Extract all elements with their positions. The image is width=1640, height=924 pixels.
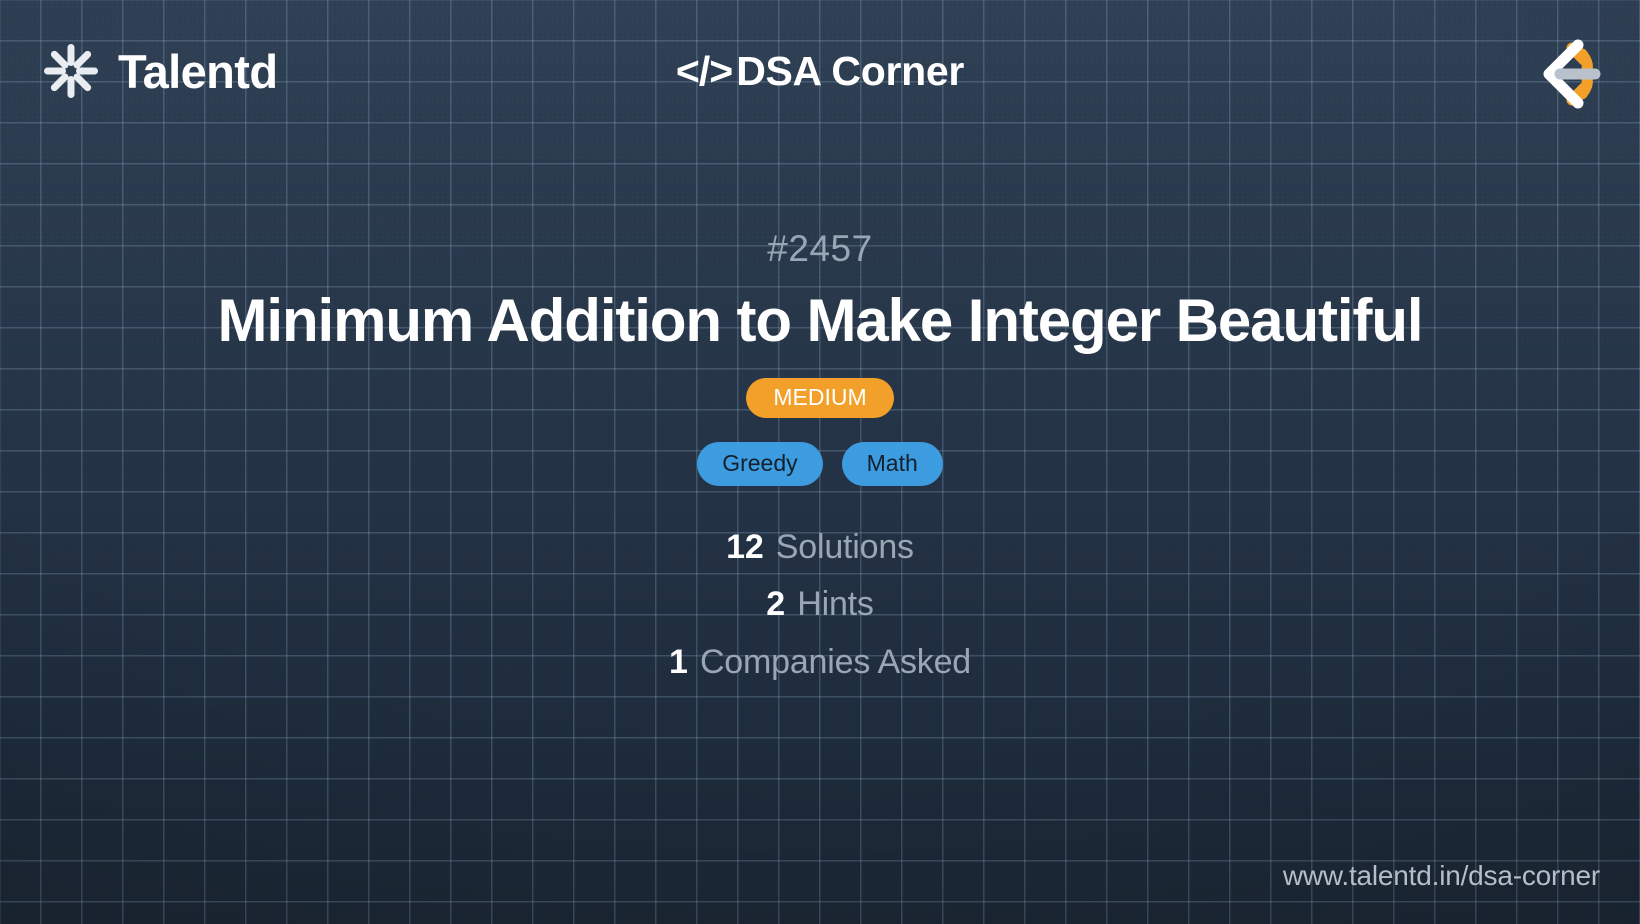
problem-title: Minimum Addition to Make Integer Beautif… — [218, 289, 1423, 354]
problem-stats: 12 Solutions 2 Hints 1 Companies Asked — [669, 530, 971, 681]
poster-canvas: Talentd </>DSA Corner #2457 Minimum Addi… — [0, 0, 1640, 924]
code-brackets-icon: </> — [676, 48, 732, 94]
stat-count: 12 — [726, 528, 763, 566]
footer-url[interactable]: www.talentd.in/dsa-corner — [1283, 860, 1600, 892]
stat-count: 2 — [766, 585, 785, 623]
stat-row: 2 Hints — [766, 587, 873, 623]
stat-label: Solutions — [767, 528, 914, 566]
leetcode-logo-icon — [1516, 26, 1602, 122]
topic-tag[interactable]: Greedy — [697, 442, 822, 486]
stat-row: 12 Solutions — [726, 530, 914, 566]
stat-count: 1 — [669, 643, 688, 681]
problem-card: #2457 Minimum Addition to Make Integer B… — [0, 230, 1640, 681]
stat-label: Companies Asked — [691, 643, 971, 681]
topic-tag[interactable]: Math — [842, 442, 943, 486]
page-title-label: DSA Corner — [736, 48, 964, 94]
problem-number: #2457 — [767, 230, 872, 267]
stat-label: Hints — [788, 585, 874, 623]
stat-row: 1 Companies Asked — [669, 645, 971, 681]
poster-header: Talentd </>DSA Corner — [0, 0, 1640, 155]
difficulty-badge: MEDIUM — [746, 378, 893, 418]
topic-tag-list: Greedy Math — [697, 442, 943, 486]
page-title: </>DSA Corner — [0, 48, 1640, 95]
